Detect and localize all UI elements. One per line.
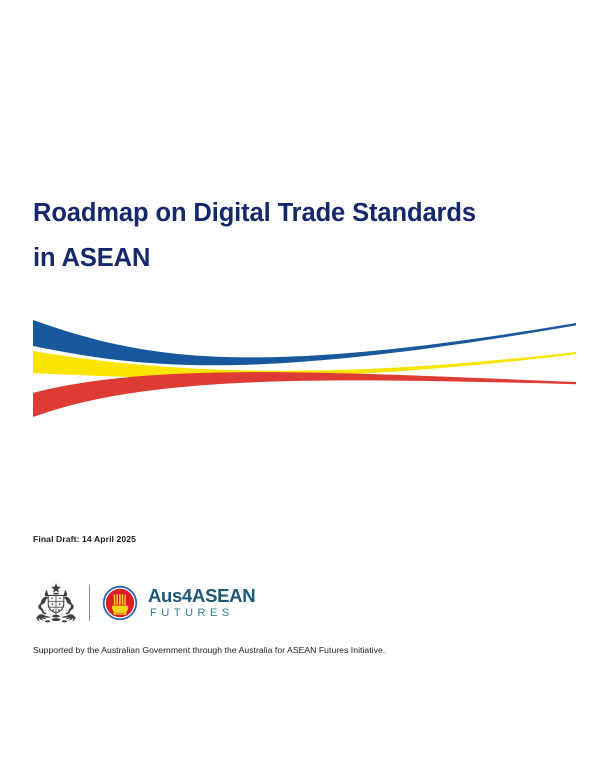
asean-emblem-icon: asean: [102, 585, 138, 621]
cover-page: Roadmap on Digital Trade Standards in AS…: [0, 0, 600, 782]
wordmark-secondary: FUTURES: [148, 606, 255, 620]
page-title: Roadmap on Digital Trade Standards in AS…: [33, 191, 553, 281]
logo-lockup: asean Aus4ASEAN FUTURES: [33, 578, 255, 628]
australian-government-coat-of-arms-icon: [33, 581, 79, 625]
ribbon-swoosh-graphic: [0, 300, 600, 440]
red-ribbon: [33, 372, 576, 417]
draft-date: Final Draft: 14 April 2025: [33, 534, 136, 544]
page-title-line-1: Roadmap on Digital Trade Standards: [33, 191, 553, 236]
svg-text:asean: asean: [116, 612, 125, 615]
aus4asean-wordmark: Aus4ASEAN FUTURES: [148, 586, 255, 620]
wordmark-primary: Aus4ASEAN: [148, 586, 255, 605]
blue-ribbon: [33, 320, 576, 365]
page-title-line-2: in ASEAN: [33, 236, 553, 281]
support-statement: Supported by the Australian Government t…: [33, 645, 385, 655]
logo-divider: [89, 585, 90, 621]
